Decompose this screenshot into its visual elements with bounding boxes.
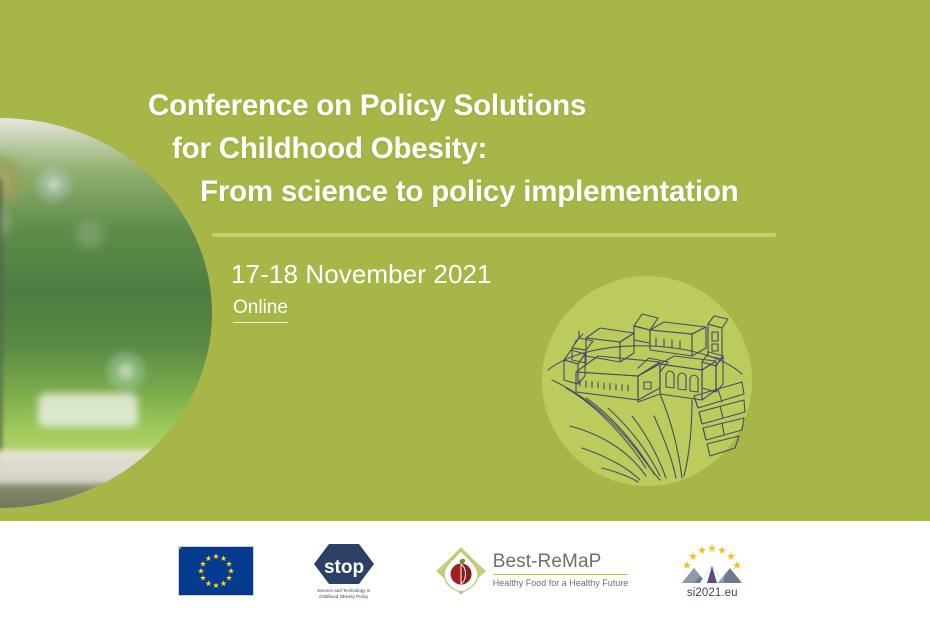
eu-stars-icon bbox=[179, 547, 253, 595]
page-title: Conference on Policy Solutions for Child… bbox=[140, 84, 840, 213]
logo-footer: stop Science and Technology in childhood… bbox=[0, 521, 930, 620]
best-remap-tagline: Healthy Food for a Healthy Future bbox=[493, 577, 629, 590]
stop-subtitle-line-1: Science and Technology in bbox=[317, 588, 370, 594]
title-line-2: for Childhood Obesity: bbox=[140, 127, 840, 170]
hero-section: Conference on Policy Solutions for Child… bbox=[0, 0, 930, 521]
event-date: 17-18 November 2021 bbox=[231, 259, 492, 290]
eu-flag-icon bbox=[178, 546, 254, 596]
best-remap-emblem-icon bbox=[434, 545, 488, 597]
logo-stop: stop Science and Technology in childhood… bbox=[298, 542, 390, 599]
stop-wordmark: stop bbox=[324, 557, 364, 578]
stop-subtitle: Science and Technology in childhood Obes… bbox=[317, 588, 370, 599]
best-remap-wordmark: Best-ReMaP bbox=[493, 552, 629, 575]
title-line-1: Conference on Policy Solutions bbox=[140, 84, 840, 127]
car-blur bbox=[38, 393, 138, 427]
title-divider bbox=[212, 233, 776, 237]
water-blur bbox=[0, 484, 212, 508]
stop-hexagon-icon: stop bbox=[313, 542, 375, 586]
stop-subtitle-line-2: childhood Obesity Policy bbox=[317, 594, 370, 600]
event-location: Online bbox=[233, 297, 288, 323]
title-line-3: From science to policy implementation bbox=[140, 170, 840, 213]
conference-banner: Conference on Policy Solutions for Child… bbox=[0, 0, 930, 620]
lamp-post-blur bbox=[0, 178, 2, 468]
best-remap-text: Best-ReMaP Healthy Food for a Healthy Fu… bbox=[493, 552, 629, 590]
si2021-emblem-icon bbox=[674, 542, 750, 586]
castle-line-art-icon bbox=[542, 276, 752, 486]
logo-best-remap: Best-ReMaP Healthy Food for a Healthy Fu… bbox=[434, 545, 629, 597]
si2021-wordmark: si2021.eu bbox=[687, 587, 738, 599]
logo-si2021: si2021.eu bbox=[672, 542, 752, 599]
logo-eu-flag bbox=[178, 546, 254, 596]
logo-row: stop Science and Technology in childhood… bbox=[0, 521, 930, 620]
castle-illustration bbox=[542, 276, 752, 486]
